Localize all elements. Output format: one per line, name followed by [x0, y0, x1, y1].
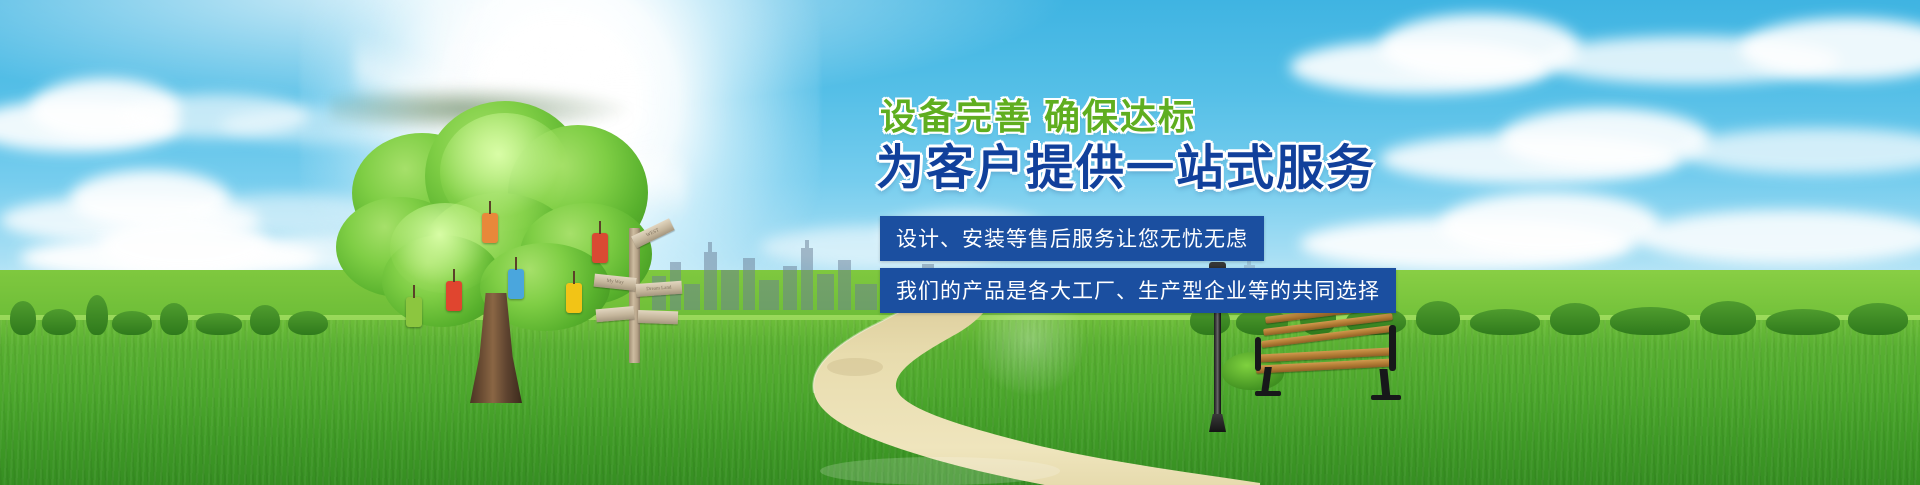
tree-tag-orange	[482, 213, 498, 243]
subline-2: 我们的产品是各大工厂、生产型企业等的共同选择	[880, 268, 1396, 313]
tree-tag-red	[446, 281, 462, 311]
signpost-arm-dreamland: Dream Land	[636, 281, 683, 297]
tree-tag-blue	[508, 269, 524, 299]
headline-green: 设备完善 确保达标	[880, 96, 1640, 138]
subline-2-wrap: 我们的产品是各大工厂、生产型企业等的共同选择	[880, 268, 1640, 313]
signpost-arm-blank-right	[638, 310, 678, 324]
bench-arm-right	[1389, 325, 1396, 371]
banner-copy: 设备完善 确保达标 为客户提供一站式服务 设计、安装等售后服务让您无忧无虑 我们…	[880, 96, 1640, 313]
tree-tag-green	[406, 297, 422, 327]
tree-tag-yellow	[566, 283, 582, 313]
bench-arm-left	[1255, 337, 1261, 371]
subline-1: 设计、安装等售后服务让您无忧无虑	[880, 216, 1264, 261]
bench-foot-right	[1371, 395, 1401, 400]
signpost-arm-myway-label: My Way	[606, 279, 624, 286]
park-bench	[1253, 307, 1401, 399]
headline-blue: 为客户提供一站式服务	[876, 140, 1640, 198]
hero-banner: WEST My Way Dream Land 设备完善 确保达标	[0, 0, 1920, 485]
bench-foot-left	[1255, 391, 1281, 396]
lamp-base	[1209, 414, 1226, 432]
subline-1-wrap: 设计、安装等售后服务让您无忧无虑	[880, 216, 1640, 261]
signpost-arm-west-label: WEST	[646, 228, 660, 238]
signpost: WEST My Way Dream Land	[596, 228, 676, 363]
signpost-arm-dreamland-label: Dream Land	[646, 286, 671, 293]
